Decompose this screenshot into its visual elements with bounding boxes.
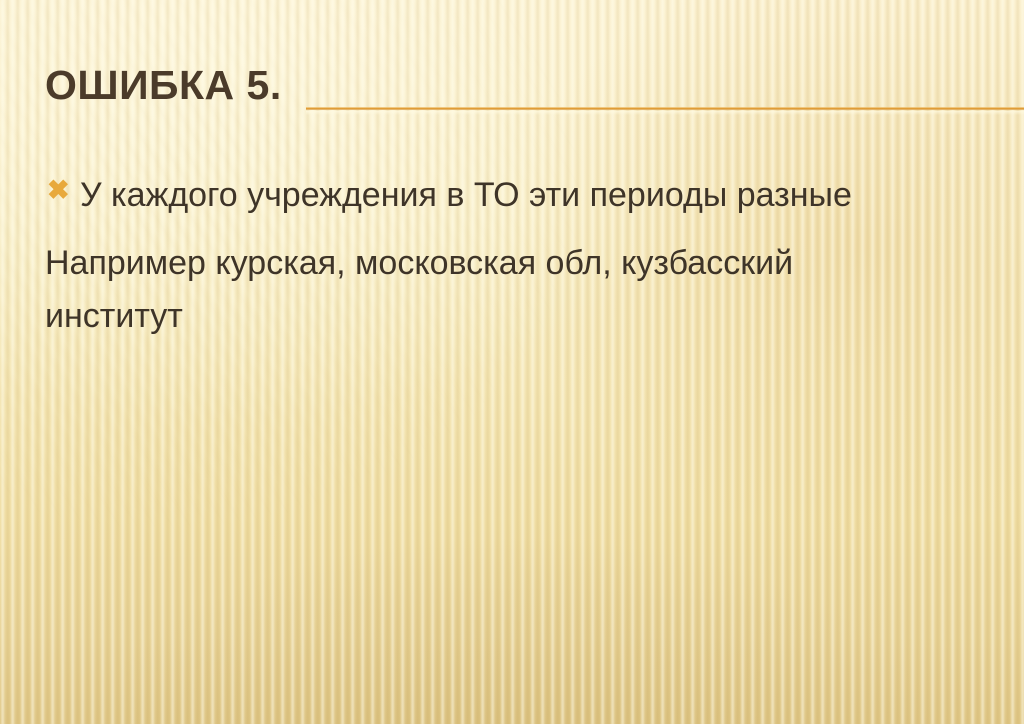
title-underline-rule xyxy=(306,107,1024,110)
slide-title-block: ОШИБКА 5. xyxy=(0,62,1024,118)
presentation-slide: ОШИБКА 5. ✖ У каждого учреждения в ТО эт… xyxy=(0,0,1024,724)
bullet-list-item: ✖ У каждого учреждения в ТО эти периоды … xyxy=(0,172,1024,219)
bullet-list-item-text: У каждого учреждения в ТО эти периоды ра… xyxy=(80,176,852,214)
body-paragraph-institute: институт xyxy=(0,290,1024,343)
slide-body-block: ✖ У каждого учреждения в ТО эти периоды … xyxy=(0,172,1024,343)
body-paragraph-example: Например курская, московская обл, кузбас… xyxy=(0,237,1024,290)
slide-title: ОШИБКА 5. xyxy=(45,62,282,108)
multiplication-x-bullet-icon: ✖ xyxy=(47,179,69,201)
title-underline-highlight xyxy=(306,111,1024,115)
